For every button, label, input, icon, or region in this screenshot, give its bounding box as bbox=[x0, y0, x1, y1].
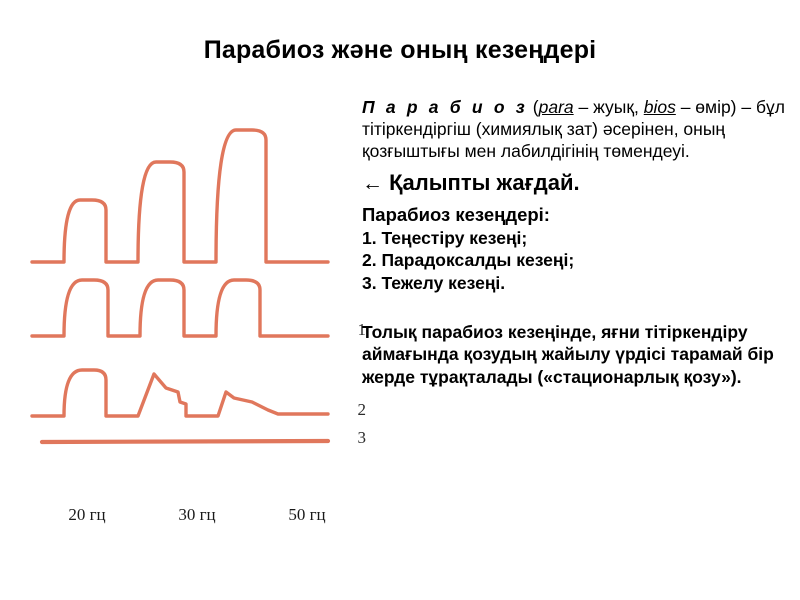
trace-label-3: 3 bbox=[358, 428, 367, 448]
normal-state-callout: ← Қалыпты жағдай. bbox=[362, 170, 794, 196]
waveform-paradoxical-svg bbox=[28, 362, 338, 424]
axis-label-20hz: 20 гц bbox=[42, 505, 132, 525]
page-title: Парабиоз және оның кезеңдері bbox=[0, 36, 800, 65]
definition-term: П а р а б и о з bbox=[362, 97, 528, 117]
parabiosis-waveform-figure: 1 2 3 20 гц 30 гц 50 гц bbox=[28, 120, 368, 530]
phase-item-3: 3. Тежелу кезеңі. bbox=[362, 272, 794, 295]
latin-term-bios: bios bbox=[644, 97, 676, 117]
waveform-normal-svg bbox=[28, 120, 338, 270]
left-arrow-icon: ← bbox=[362, 172, 383, 195]
latin-term-para: para bbox=[539, 97, 574, 117]
definition-gloss-1: – жуық, bbox=[574, 97, 644, 117]
waveform-trace-normal bbox=[28, 120, 368, 270]
text-column: П а р а б и о з (para – жуық, bios – өмі… bbox=[362, 96, 794, 388]
waveform-trace-inhibition: 3 bbox=[28, 430, 368, 452]
waveform-equalization-svg bbox=[28, 272, 338, 344]
normal-state-label: Қалыпты жағдай. bbox=[389, 170, 580, 195]
conclusion-paragraph: Толық парабиоз кезеңінде, яғни тітіркенд… bbox=[362, 321, 794, 388]
definition-open-paren: ( bbox=[528, 97, 539, 117]
frequency-axis-labels: 20 гц 30 гц 50 гц bbox=[42, 505, 352, 525]
axis-label-30hz: 30 гц bbox=[152, 505, 242, 525]
phase-item-1: 1. Теңестіру кезеңі; bbox=[362, 227, 794, 250]
phase-item-2: 2. Парадоксалды кезеңі; bbox=[362, 249, 794, 272]
waveform-trace-equalization: 1 bbox=[28, 272, 368, 344]
axis-label-50hz: 50 гц bbox=[262, 505, 352, 525]
phases-heading: Парабиоз кезеңдері: bbox=[362, 203, 794, 226]
waveform-inhibition-svg bbox=[28, 430, 338, 452]
waveform-trace-paradoxical: 2 bbox=[28, 362, 368, 424]
trace-label-2: 2 bbox=[358, 400, 367, 420]
parabiosis-definition: П а р а б и о з (para – жуық, bios – өмі… bbox=[362, 96, 794, 162]
